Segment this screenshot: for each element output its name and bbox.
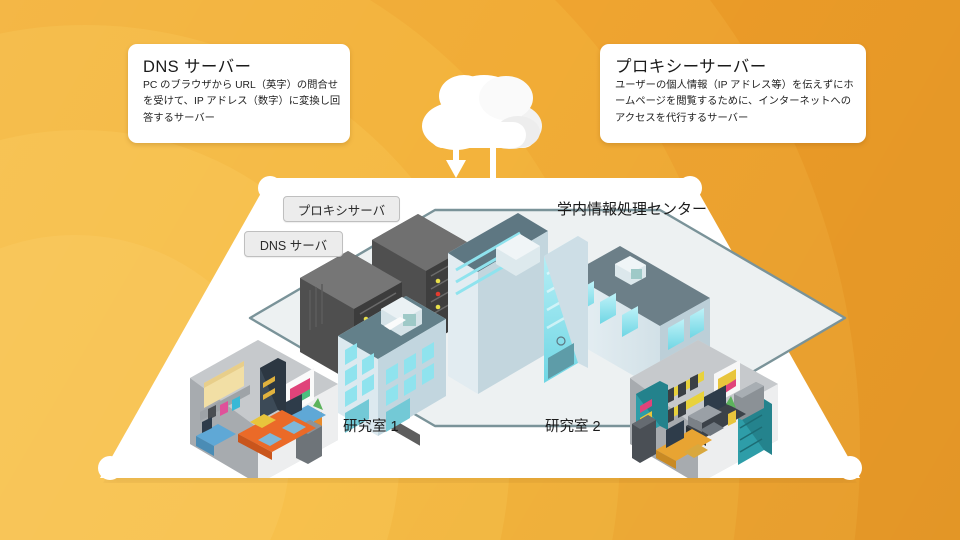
room-1 bbox=[190, 340, 338, 478]
callout-title-dns: DNS サーバー bbox=[143, 53, 251, 77]
room-2 bbox=[630, 340, 778, 478]
cutaway-rooms bbox=[100, 178, 860, 478]
label-information-center: 学内情報処理センター bbox=[557, 198, 707, 219]
callout-card-dns: DNS サーバー PC のブラウザから URL（英字）の問合せを受けて、IP ア… bbox=[128, 44, 350, 143]
label-room-2: 研究室 2 bbox=[545, 415, 601, 436]
diagram-canvas: DNS サーバー PC のブラウザから URL（英字）の問合せを受けて、IP ア… bbox=[0, 0, 960, 540]
label-room-1: 研究室 1 bbox=[343, 415, 399, 436]
arrow-down-icon bbox=[446, 122, 466, 178]
cloud-arrows bbox=[428, 120, 528, 180]
callout-title-proxy: プロキシーサーバー bbox=[615, 53, 767, 77]
callout-body-proxy: ユーザーの個人情報（IP アドレス等）を伝えずにホームページを閲覧するために、イ… bbox=[615, 78, 861, 127]
pill-label-proxy-server: プロキシサーバ bbox=[283, 196, 400, 222]
pill-label-dns-server: DNS サーバ bbox=[244, 231, 343, 257]
callout-card-proxy: プロキシーサーバー ユーザーの個人情報（IP アドレス等）を伝えずにホームページ… bbox=[600, 44, 866, 143]
arrow-up-icon bbox=[483, 122, 503, 178]
callout-body-dns: PC のブラウザから URL（英字）の問合せを受けて、IP アドレス（数字）に変… bbox=[143, 78, 343, 127]
